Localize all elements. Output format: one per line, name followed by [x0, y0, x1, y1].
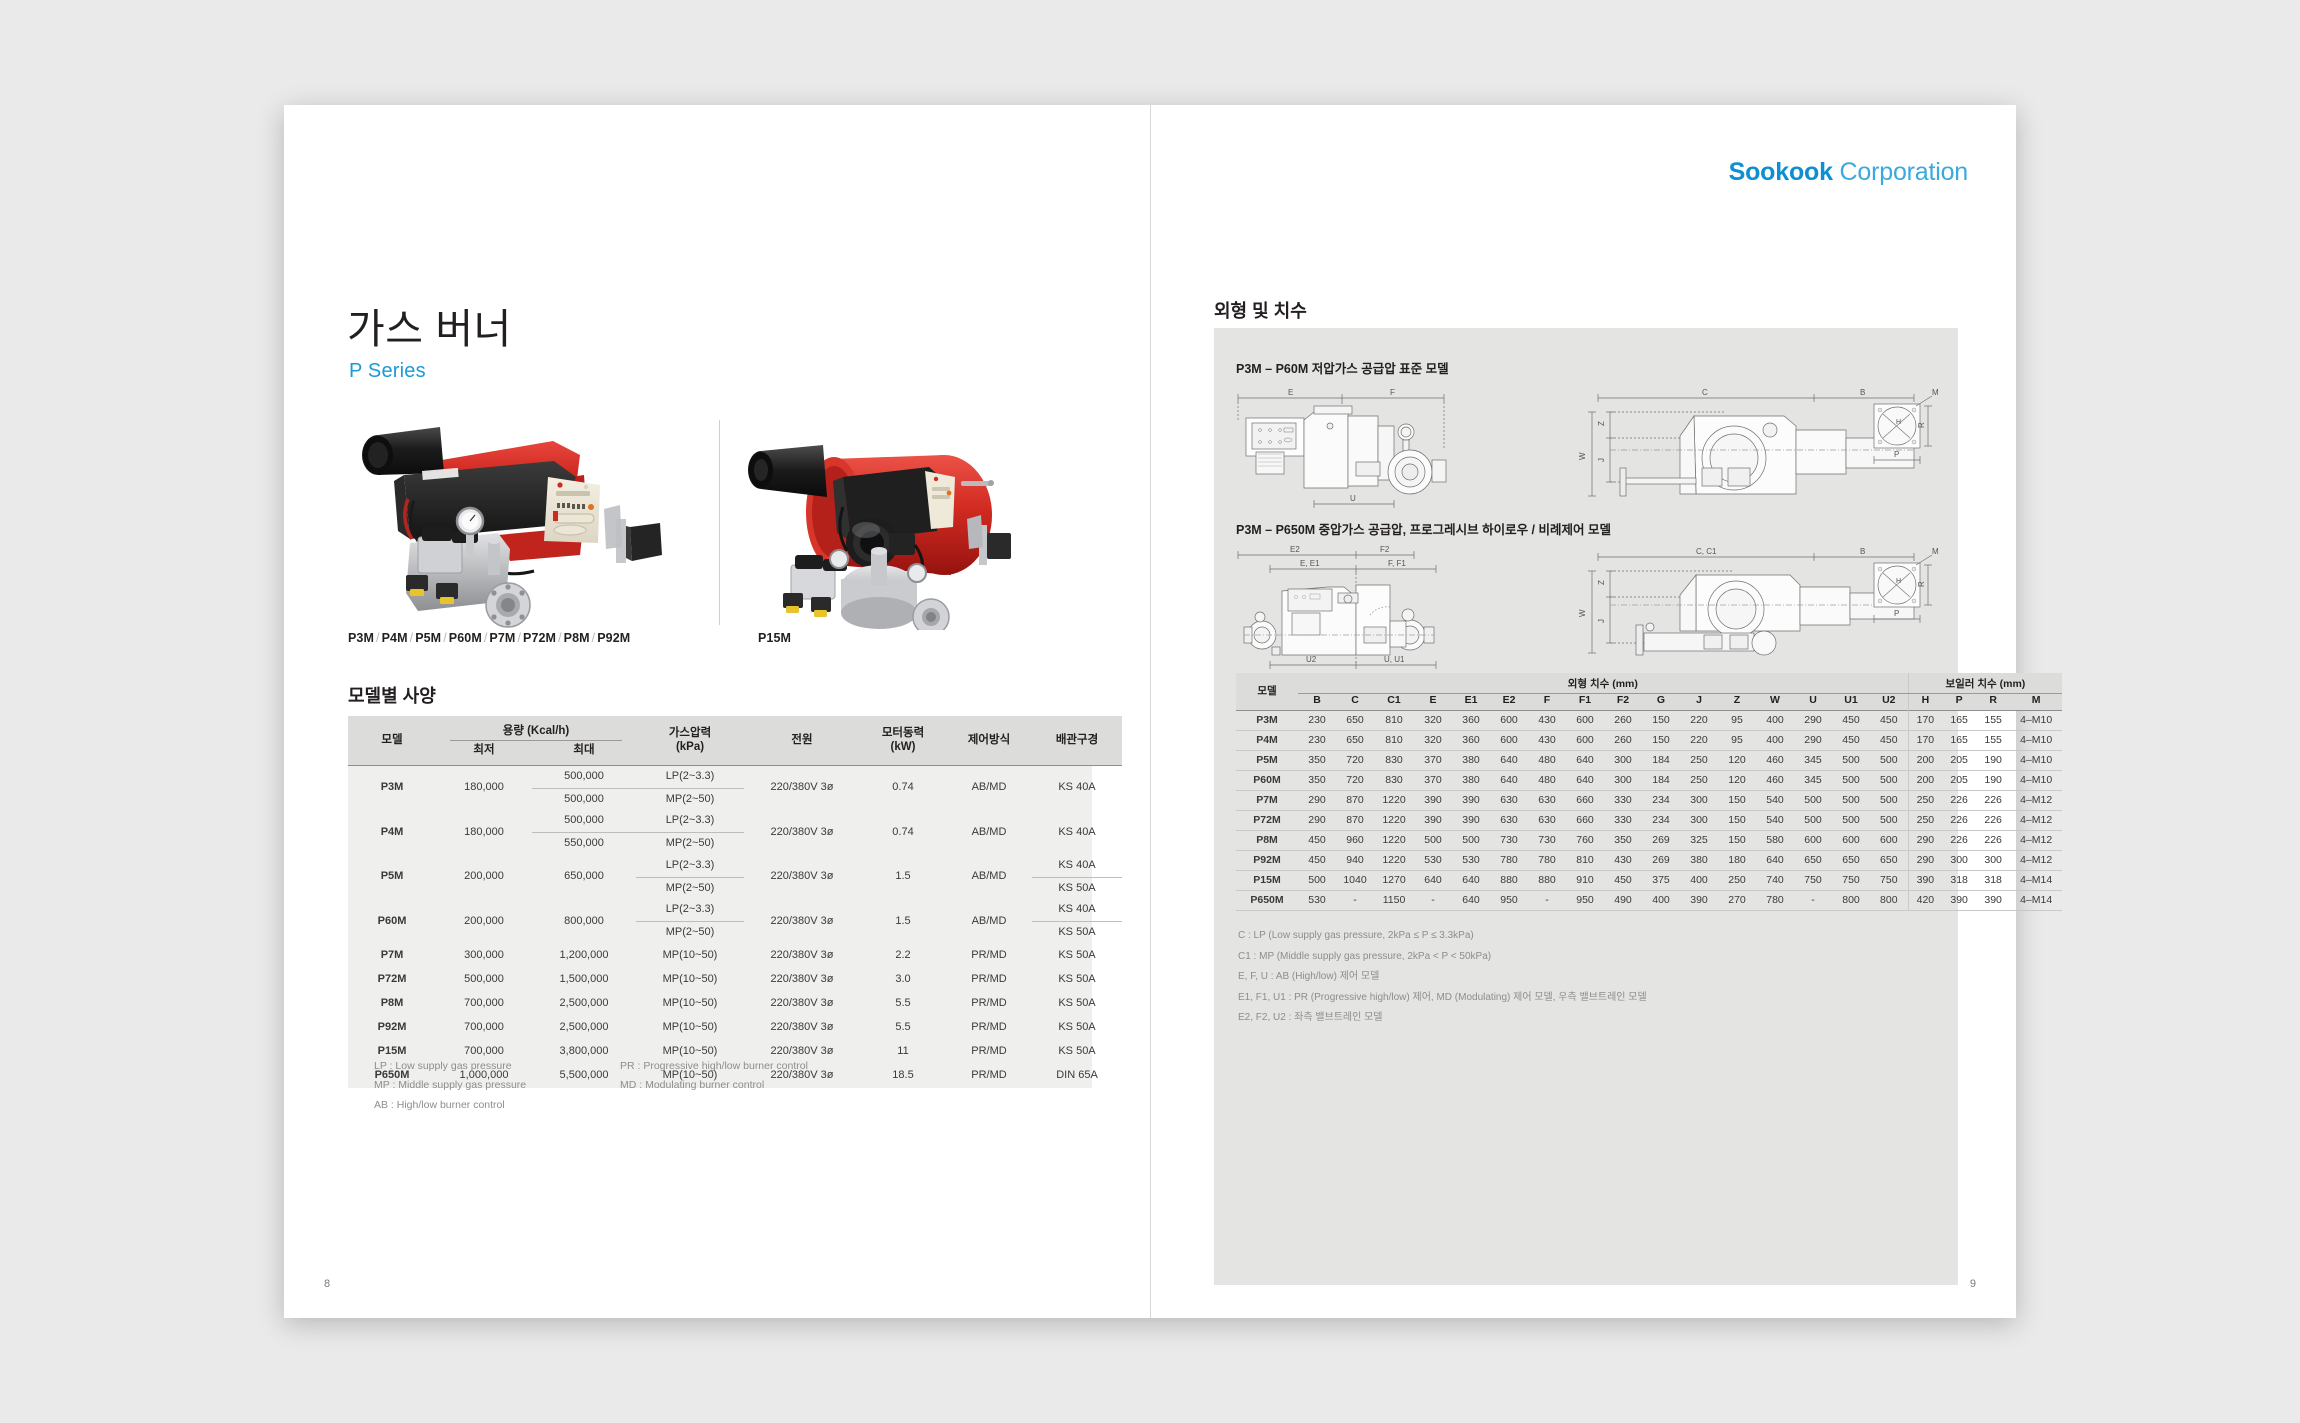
- dim-cell-f1: 660: [1566, 811, 1604, 831]
- dim-cell-u1: 600: [1832, 831, 1870, 851]
- spec-cell-motor: 1.5: [860, 855, 946, 900]
- page-canvas: 가스 버너 P Series: [0, 0, 2300, 1423]
- gas-pressure-value: MP(10~50): [663, 973, 718, 985]
- svg-text:M: M: [1932, 388, 1939, 397]
- dim-cell-h: 390: [1908, 871, 1942, 891]
- spec-cell-motor: 1.5: [860, 899, 946, 944]
- svg-text:E, E1: E, E1: [1300, 559, 1320, 568]
- th-dim-u1: U1: [1832, 693, 1870, 711]
- dim-cell-w: 460: [1756, 771, 1794, 791]
- dim-cell-u2: 500: [1870, 771, 1908, 791]
- dimension-row: P60M350720830370380640480640300184250120…: [1236, 771, 2062, 791]
- th-gas-pressure: 가스압력 (kPa): [636, 716, 744, 765]
- svg-text:U2: U2: [1306, 655, 1317, 664]
- photo-caption-a: P3M/P4M/P5M/P60M/P7M/P72M/P8M/P92M: [348, 631, 630, 645]
- dim-cell-f: 630: [1528, 791, 1566, 811]
- dim-cell-w: 400: [1756, 731, 1794, 751]
- dim-cell-u: 650: [1794, 851, 1832, 871]
- dim-cell-u1: 450: [1832, 711, 1870, 731]
- dim-cell-j: 220: [1680, 711, 1718, 731]
- spec-row: P60M200,000800,000LP(2~3.3)MP(2~50)220/3…: [348, 899, 1122, 944]
- spec-row: P72M500,0001,500,000MP(10~50)220/380V 3ø…: [348, 968, 1122, 992]
- drawing-1: E F: [1224, 380, 1948, 517]
- dim-cell-j: 250: [1680, 751, 1718, 771]
- dim-cell-e: 370: [1414, 751, 1452, 771]
- spec-cell-control: PR/MD: [946, 992, 1032, 1016]
- spec-row: P4M180,000500,000550,000LP(2~3.3)MP(2~50…: [348, 810, 1122, 855]
- th-motor-line2: (kW): [860, 740, 946, 754]
- spec-cell-capacity-max: 1,500,000: [532, 968, 636, 992]
- dim-cell-f: 480: [1528, 771, 1566, 791]
- spec-cell-capacity-max: 1,200,000: [532, 944, 636, 968]
- dim-cell-model: P650M: [1236, 891, 1298, 911]
- product-photos: P3M/P4M/P5M/P60M/P7M/P72M/P8M/P92M P15M: [324, 415, 1114, 630]
- dim-cell-f2: 300: [1604, 771, 1642, 791]
- spec-legend: LP : Low supply gas pressure MP : Middle…: [348, 1057, 1092, 1152]
- dim-cell-p: 390: [1942, 891, 1976, 911]
- dim-cell-b: 500: [1298, 871, 1336, 891]
- caption-model: P3M: [348, 631, 374, 645]
- dim-cell-g: 375: [1642, 871, 1680, 891]
- pipe-value: KS 50A: [1058, 997, 1095, 1009]
- brand-logo: Sookook Corporation: [1729, 158, 1968, 187]
- product-photo-p15m: [739, 415, 1039, 630]
- svg-text:P: P: [1894, 609, 1899, 618]
- spec-table-body: P3M180,000500,000500,000LP(2~3.3)MP(2~50…: [348, 765, 1122, 1088]
- dim-cell-z: 180: [1718, 851, 1756, 871]
- spec-cell-capacity-max: 800,000: [532, 899, 636, 944]
- pipe-value: KS 40A: [1058, 781, 1095, 793]
- spec-cell-pipe: KS 50A: [1032, 992, 1122, 1016]
- spec-cell-capacity-max: 650,000: [532, 855, 636, 900]
- dim-cell-r: 300: [1976, 851, 2010, 871]
- dim-cell-e1: 380: [1452, 751, 1490, 771]
- gas-pressure-value-stack: LP(2~3.3)MP(2~50): [636, 766, 744, 811]
- dim-cell-g: 400: [1642, 891, 1680, 911]
- spec-cell-pipe: KS 50A: [1032, 944, 1122, 968]
- burner-illustration-a: [348, 415, 693, 630]
- dim-cell-j: 300: [1680, 791, 1718, 811]
- drawing-2-svg: E2 F2 E, E1 F, F1: [1224, 541, 1948, 669]
- dim-cell-m: 4–M12: [2010, 831, 2062, 851]
- spec-cell-control: AB/MD: [946, 899, 1032, 944]
- dim-cell-model: P92M: [1236, 851, 1298, 871]
- gas-pressure-value: MP(2~50): [636, 878, 744, 900]
- spec-cell-gas-pressure: LP(2~3.3)MP(2~50): [636, 810, 744, 855]
- dim-note: E1, F1, U1 : PR (Progressive high/low) 제…: [1238, 988, 1647, 1009]
- dim-cell-e2: 630: [1490, 811, 1528, 831]
- gas-pressure-value: MP(2~50): [636, 833, 744, 855]
- dim-cell-r: 155: [1976, 711, 2010, 731]
- dim-cell-model: P15M: [1236, 871, 1298, 891]
- gas-pressure-value-stack: LP(2~3.3)MP(2~50): [636, 899, 744, 944]
- spec-cell-control: AB/MD: [946, 855, 1032, 900]
- th-dim-e1: E1: [1452, 693, 1490, 711]
- dim-cell-c: -: [1336, 891, 1374, 911]
- dim-cell-u1: 500: [1832, 791, 1870, 811]
- dim-cell-r: 226: [1976, 791, 2010, 811]
- dim-header-row-2: BCC1EE1E2FF1F2GJZWUU1U2HPRM: [1236, 693, 2062, 711]
- gas-pressure-value: LP(2~3.3): [636, 899, 744, 922]
- dim-cell-b: 290: [1298, 791, 1336, 811]
- pipe-value: KS 50A: [1032, 878, 1122, 900]
- gas-pressure-value: MP(10~50): [663, 997, 718, 1009]
- dim-cell-u2: 500: [1870, 791, 1908, 811]
- dimension-row: P4M2306508103203606004306002601502209540…: [1236, 731, 2062, 751]
- dim-cell-e2: 600: [1490, 731, 1528, 751]
- spec-row: P3M180,000500,000500,000LP(2~3.3)MP(2~50…: [348, 765, 1122, 810]
- spec-cell-power: 220/380V 3ø: [744, 765, 860, 810]
- dim-cell-e1: 530: [1452, 851, 1490, 871]
- dim-cell-e: 370: [1414, 771, 1452, 791]
- dim-cell-c: 870: [1336, 811, 1374, 831]
- th-model: 모델: [348, 716, 436, 765]
- spec-cell-gas-pressure: LP(2~3.3)MP(2~50): [636, 899, 744, 944]
- dim-cell-u: 290: [1794, 731, 1832, 751]
- dim-cell-r: 318: [1976, 871, 2010, 891]
- dim-cell-m: 4–M14: [2010, 871, 2062, 891]
- dim-cell-f1: 810: [1566, 851, 1604, 871]
- drawing-2-title: P3M – P650M 중압가스 공급압, 프로그레시브 하이로우 / 비례제어…: [1236, 519, 1611, 538]
- spec-cell-power: 220/380V 3ø: [744, 992, 860, 1016]
- dim-cell-f1: 950: [1566, 891, 1604, 911]
- spec-cell-control: PR/MD: [946, 1016, 1032, 1040]
- dimension-table-container: 모델 외형 치수 (mm) 보일러 치수 (mm) BCC1EE1E2FF1F2…: [1236, 673, 1936, 911]
- dim-cell-z: 150: [1718, 791, 1756, 811]
- dim-cell-e1: 500: [1452, 831, 1490, 851]
- dim-note: C1 : MP (Middle supply gas pressure, 2kP…: [1238, 947, 1647, 968]
- dim-note: E2, F2, U2 : 좌측 밸브트레인 모델: [1238, 1008, 1647, 1029]
- dim-cell-g: 184: [1642, 751, 1680, 771]
- dim-cell-g: 269: [1642, 851, 1680, 871]
- th-dim-h: H: [1908, 693, 1942, 711]
- spec-cell-power: 220/380V 3ø: [744, 855, 860, 900]
- spread-gutter: [1150, 105, 1151, 1318]
- left-page: 가스 버너 P Series: [284, 105, 1150, 1318]
- th-dim-e: E: [1414, 693, 1452, 711]
- capacity-max-value-stack: 500,000550,000: [532, 810, 636, 855]
- pipe-value: KS 40A: [1032, 899, 1122, 922]
- gas-pressure-value: MP(10~50): [663, 1021, 718, 1033]
- dim-cell-f1: 660: [1566, 791, 1604, 811]
- dim-cell-e2: 640: [1490, 771, 1528, 791]
- svg-text:J: J: [1597, 458, 1606, 462]
- dim-cell-p: 300: [1942, 851, 1976, 871]
- dim-cell-u2: 500: [1870, 751, 1908, 771]
- dim-cell-m: 4–M10: [2010, 771, 2062, 791]
- dim-cell-e2: 640: [1490, 751, 1528, 771]
- spec-cell-model: P5M: [348, 855, 436, 900]
- svg-text:R: R: [1917, 581, 1926, 587]
- dim-cell-f: -: [1528, 891, 1566, 911]
- legend-item: PR : Progressive high/low burner control: [620, 1057, 808, 1076]
- dim-cell-f2: 330: [1604, 791, 1642, 811]
- th-dim-p: P: [1942, 693, 1976, 711]
- dim-cell-p: 165: [1942, 731, 1976, 751]
- spec-cell-capacity-max: 2,500,000: [532, 1016, 636, 1040]
- th-capacity-min: 최저: [436, 743, 532, 765]
- pipe-value: KS 50A: [1058, 973, 1095, 985]
- dim-cell-e1: 390: [1452, 811, 1490, 831]
- dim-cell-f: 430: [1528, 731, 1566, 751]
- dim-cell-u1: 450: [1832, 731, 1870, 751]
- gas-pressure-value: LP(2~3.3): [636, 766, 744, 789]
- dim-cell-u: 600: [1794, 831, 1832, 851]
- dim-cell-u: 290: [1794, 711, 1832, 731]
- dim-cell-u1: 500: [1832, 811, 1870, 831]
- dim-cell-f: 730: [1528, 831, 1566, 851]
- spec-row: P7M300,0001,200,000MP(10~50)220/380V 3ø2…: [348, 944, 1122, 968]
- dimension-row: P3M2306508103203606004306002601502209540…: [1236, 711, 2062, 731]
- capacity-max-value: 2,500,000: [560, 1021, 609, 1033]
- dim-cell-m: 4–M14: [2010, 891, 2062, 911]
- dim-cell-e: -: [1414, 891, 1452, 911]
- th-power: 전원: [744, 716, 860, 765]
- spec-cell-model: P4M: [348, 810, 436, 855]
- dim-cell-e2: 950: [1490, 891, 1528, 911]
- spec-row: P5M200,000650,000LP(2~3.3)MP(2~50)220/38…: [348, 855, 1122, 900]
- capacity-max-value: 500,000: [532, 766, 636, 789]
- dim-cell-c1: 1220: [1374, 811, 1414, 831]
- dim-cell-j: 220: [1680, 731, 1718, 751]
- dim-cell-f2: 330: [1604, 811, 1642, 831]
- capacity-max-value: 550,000: [532, 833, 636, 855]
- dim-cell-c: 940: [1336, 851, 1374, 871]
- dim-cell-u2: 600: [1870, 831, 1908, 851]
- dim-cell-f1: 640: [1566, 751, 1604, 771]
- dimension-table-head: 모델 외형 치수 (mm) 보일러 치수 (mm) BCC1EE1E2FF1F2…: [1236, 673, 2062, 711]
- dim-cell-f: 480: [1528, 751, 1566, 771]
- svg-text:F2: F2: [1380, 545, 1390, 554]
- svg-text:W: W: [1578, 609, 1587, 617]
- dim-cell-u1: 500: [1832, 771, 1870, 791]
- dim-cell-p: 318: [1942, 871, 1976, 891]
- legend-column-2: PR : Progressive high/low burner control…: [620, 1057, 808, 1096]
- dim-cell-c: 720: [1336, 751, 1374, 771]
- burner-illustration-b: [739, 415, 1039, 630]
- dim-cell-m: 4–M10: [2010, 751, 2062, 771]
- dim-cell-c1: 1270: [1374, 871, 1414, 891]
- dim-cell-e1: 640: [1452, 891, 1490, 911]
- caption-model: P5M: [415, 631, 441, 645]
- spec-cell-pipe: KS 50A: [1032, 968, 1122, 992]
- dim-cell-m: 4–M10: [2010, 711, 2062, 731]
- dim-cell-e2: 730: [1490, 831, 1528, 851]
- spec-cell-pipe: KS 40AKS 50A: [1032, 899, 1122, 944]
- capacity-max-value: 500,000: [532, 810, 636, 833]
- gas-pressure-value: MP(10~50): [663, 949, 718, 961]
- svg-text:Z: Z: [1597, 580, 1606, 585]
- dim-cell-j: 300: [1680, 811, 1718, 831]
- dim-cell-c1: 810: [1374, 731, 1414, 751]
- dim-cell-c: 1040: [1336, 871, 1374, 891]
- dim-cell-r: 190: [1976, 771, 2010, 791]
- th-dim-e2: E2: [1490, 693, 1528, 711]
- dim-cell-h: 250: [1908, 811, 1942, 831]
- dim-note: C : LP (Low supply gas pressure, 2kPa ≤ …: [1238, 926, 1647, 947]
- dim-cell-u1: 500: [1832, 751, 1870, 771]
- dim-cell-j: 250: [1680, 771, 1718, 791]
- spec-cell-power: 220/380V 3ø: [744, 810, 860, 855]
- dimension-row: P15M500104012706406408808809104503754002…: [1236, 871, 2062, 891]
- dim-cell-g: 184: [1642, 771, 1680, 791]
- th-dim-j: J: [1680, 693, 1718, 711]
- svg-text:W: W: [1578, 452, 1587, 460]
- dim-cell-g: 234: [1642, 791, 1680, 811]
- spec-header-row-1: 모델 용량 (Kcal/h) 가스압력 (kPa) 전원 모터동력: [348, 716, 1122, 743]
- spec-cell-gas-pressure: MP(10~50): [636, 1016, 744, 1040]
- caption-model: P8M: [564, 631, 590, 645]
- th-dim-m: M: [2010, 693, 2062, 711]
- dim-cell-w: 780: [1756, 891, 1794, 911]
- dim-cell-b: 350: [1298, 751, 1336, 771]
- pipe-value-stack: KS 40AKS 50A: [1032, 899, 1122, 944]
- gas-pressure-value-stack: LP(2~3.3)MP(2~50): [636, 855, 744, 900]
- dim-cell-c: 870: [1336, 791, 1374, 811]
- product-photo-p3m-p92m: [348, 415, 693, 630]
- dim-cell-c1: 1220: [1374, 791, 1414, 811]
- dim-cell-g: 269: [1642, 831, 1680, 851]
- spec-cell-power: 220/380V 3ø: [744, 899, 860, 944]
- th-capacity-group: 용량 (Kcal/h): [436, 716, 636, 743]
- svg-text:B: B: [1860, 388, 1865, 397]
- dim-cell-m: 4–M12: [2010, 811, 2062, 831]
- spec-cell-model: P72M: [348, 968, 436, 992]
- dim-cell-r: 155: [1976, 731, 2010, 751]
- dim-cell-e1: 390: [1452, 791, 1490, 811]
- legend-item: MP : Middle supply gas pressure: [374, 1076, 526, 1095]
- dim-cell-e1: 640: [1452, 871, 1490, 891]
- spec-row: P8M700,0002,500,000MP(10~50)220/380V 3ø5…: [348, 992, 1122, 1016]
- dimension-row: P92M450940122053053078078081043026938018…: [1236, 851, 2062, 871]
- spec-cell-gas-pressure: MP(10~50): [636, 944, 744, 968]
- spec-cell-capacity-min: 700,000: [436, 992, 532, 1016]
- dim-cell-z: 270: [1718, 891, 1756, 911]
- brand-name: Sookook: [1729, 158, 1833, 186]
- dim-cell-w: 740: [1756, 871, 1794, 891]
- dim-cell-model: P4M: [1236, 731, 1298, 751]
- svg-text:E: E: [1288, 388, 1293, 397]
- caption-model: P7M: [489, 631, 515, 645]
- th-dim-c: C: [1336, 693, 1374, 711]
- pipe-value: KS 40A: [1058, 826, 1095, 838]
- dim-cell-j: 325: [1680, 831, 1718, 851]
- dim-cell-e2: 780: [1490, 851, 1528, 871]
- dim-cell-e1: 360: [1452, 711, 1490, 731]
- catalog-spread: 가스 버너 P Series: [284, 105, 2016, 1318]
- gas-pressure-value: MP(10~50): [663, 1045, 718, 1057]
- dim-cell-u2: 450: [1870, 731, 1908, 751]
- dim-cell-u2: 750: [1870, 871, 1908, 891]
- dim-cell-model: P72M: [1236, 811, 1298, 831]
- capacity-max-value: 2,500,000: [560, 997, 609, 1009]
- th-dim-f: F: [1528, 693, 1566, 711]
- dim-cell-b: 290: [1298, 811, 1336, 831]
- dim-cell-w: 400: [1756, 711, 1794, 731]
- spec-cell-power: 220/380V 3ø: [744, 968, 860, 992]
- th-gas-line2: (kPa): [636, 740, 744, 754]
- dim-cell-b: 450: [1298, 851, 1336, 871]
- pipe-value: KS 50A: [1058, 1045, 1095, 1057]
- dim-cell-b: 530: [1298, 891, 1336, 911]
- legend-item: AB : High/low burner control: [374, 1096, 526, 1115]
- th-dim-w: W: [1756, 693, 1794, 711]
- th-dim-u: U: [1794, 693, 1832, 711]
- dim-cell-f: 430: [1528, 711, 1566, 731]
- spec-cell-motor: 3.0: [860, 968, 946, 992]
- dim-cell-g: 150: [1642, 731, 1680, 751]
- legend-item: MD : Modulating burner control: [620, 1076, 808, 1095]
- dimensions-section-heading: 외형 및 치수: [1214, 297, 1307, 323]
- dim-cell-e: 500: [1414, 831, 1452, 851]
- th-dim-g: G: [1642, 693, 1680, 711]
- spec-cell-capacity-max: 500,000550,000: [532, 810, 636, 855]
- dim-cell-f: 630: [1528, 811, 1566, 831]
- drawing-2: E2 F2 E, E1 F, F1: [1224, 541, 1948, 674]
- spec-section-heading: 모델별 사양: [348, 682, 436, 708]
- gas-pressure-value-stack: LP(2~3.3)MP(2~50): [636, 810, 744, 855]
- dim-cell-b: 230: [1298, 731, 1336, 751]
- dim-cell-c1: 810: [1374, 711, 1414, 731]
- dim-cell-p: 205: [1942, 751, 1976, 771]
- spec-cell-motor: 5.5: [860, 1016, 946, 1040]
- dim-cell-r: 190: [1976, 751, 2010, 771]
- dim-cell-c: 720: [1336, 771, 1374, 791]
- spec-cell-motor: 0.74: [860, 765, 946, 810]
- dim-cell-e1: 360: [1452, 731, 1490, 751]
- th-dim-u2: U2: [1870, 693, 1908, 711]
- spec-cell-motor: 5.5: [860, 992, 946, 1016]
- dimension-row: P8M4509601220500500730730760350269325150…: [1236, 831, 2062, 851]
- gas-pressure-value: LP(2~3.3): [636, 855, 744, 878]
- th-motor-line1: 모터동력: [860, 726, 946, 740]
- capacity-max-value: 1,500,000: [560, 973, 609, 985]
- dimension-row: P5M3507208303703806404806403001842501204…: [1236, 751, 2062, 771]
- svg-text:B: B: [1860, 547, 1865, 556]
- dim-cell-f2: 350: [1604, 831, 1642, 851]
- dim-cell-e2: 630: [1490, 791, 1528, 811]
- th-boiler-group: 보일러 치수 (mm): [1908, 673, 2062, 693]
- dim-cell-b: 230: [1298, 711, 1336, 731]
- dim-cell-u: -: [1794, 891, 1832, 911]
- spec-cell-pipe: KS 40A: [1032, 810, 1122, 855]
- capacity-max-value-stack: 500,000500,000: [532, 766, 636, 811]
- spec-cell-control: PR/MD: [946, 944, 1032, 968]
- photo-divider: [719, 420, 720, 625]
- svg-text:E2: E2: [1290, 545, 1300, 554]
- dim-cell-f1: 640: [1566, 771, 1604, 791]
- th-outer-group: 외형 치수 (mm): [1298, 673, 1908, 693]
- capacity-max-value: 1,200,000: [560, 949, 609, 961]
- dim-cell-f2: 450: [1604, 871, 1642, 891]
- caption-model: P4M: [382, 631, 408, 645]
- page-subtitle: P Series: [349, 360, 426, 383]
- dim-cell-g: 234: [1642, 811, 1680, 831]
- dim-cell-f: 780: [1528, 851, 1566, 871]
- dim-cell-c: 650: [1336, 731, 1374, 751]
- dimension-row: P7M2908701220390390630630660330234300150…: [1236, 791, 2062, 811]
- dim-cell-u: 500: [1794, 791, 1832, 811]
- spec-cell-model: P60M: [348, 899, 436, 944]
- dim-cell-f2: 300: [1604, 751, 1642, 771]
- caption-model: P92M: [597, 631, 630, 645]
- dim-cell-u: 345: [1794, 771, 1832, 791]
- dim-cell-r: 390: [1976, 891, 2010, 911]
- svg-text:J: J: [1597, 619, 1606, 623]
- dim-cell-p: 205: [1942, 771, 1976, 791]
- dim-cell-u: 500: [1794, 811, 1832, 831]
- spec-cell-pipe: KS 40A: [1032, 765, 1122, 810]
